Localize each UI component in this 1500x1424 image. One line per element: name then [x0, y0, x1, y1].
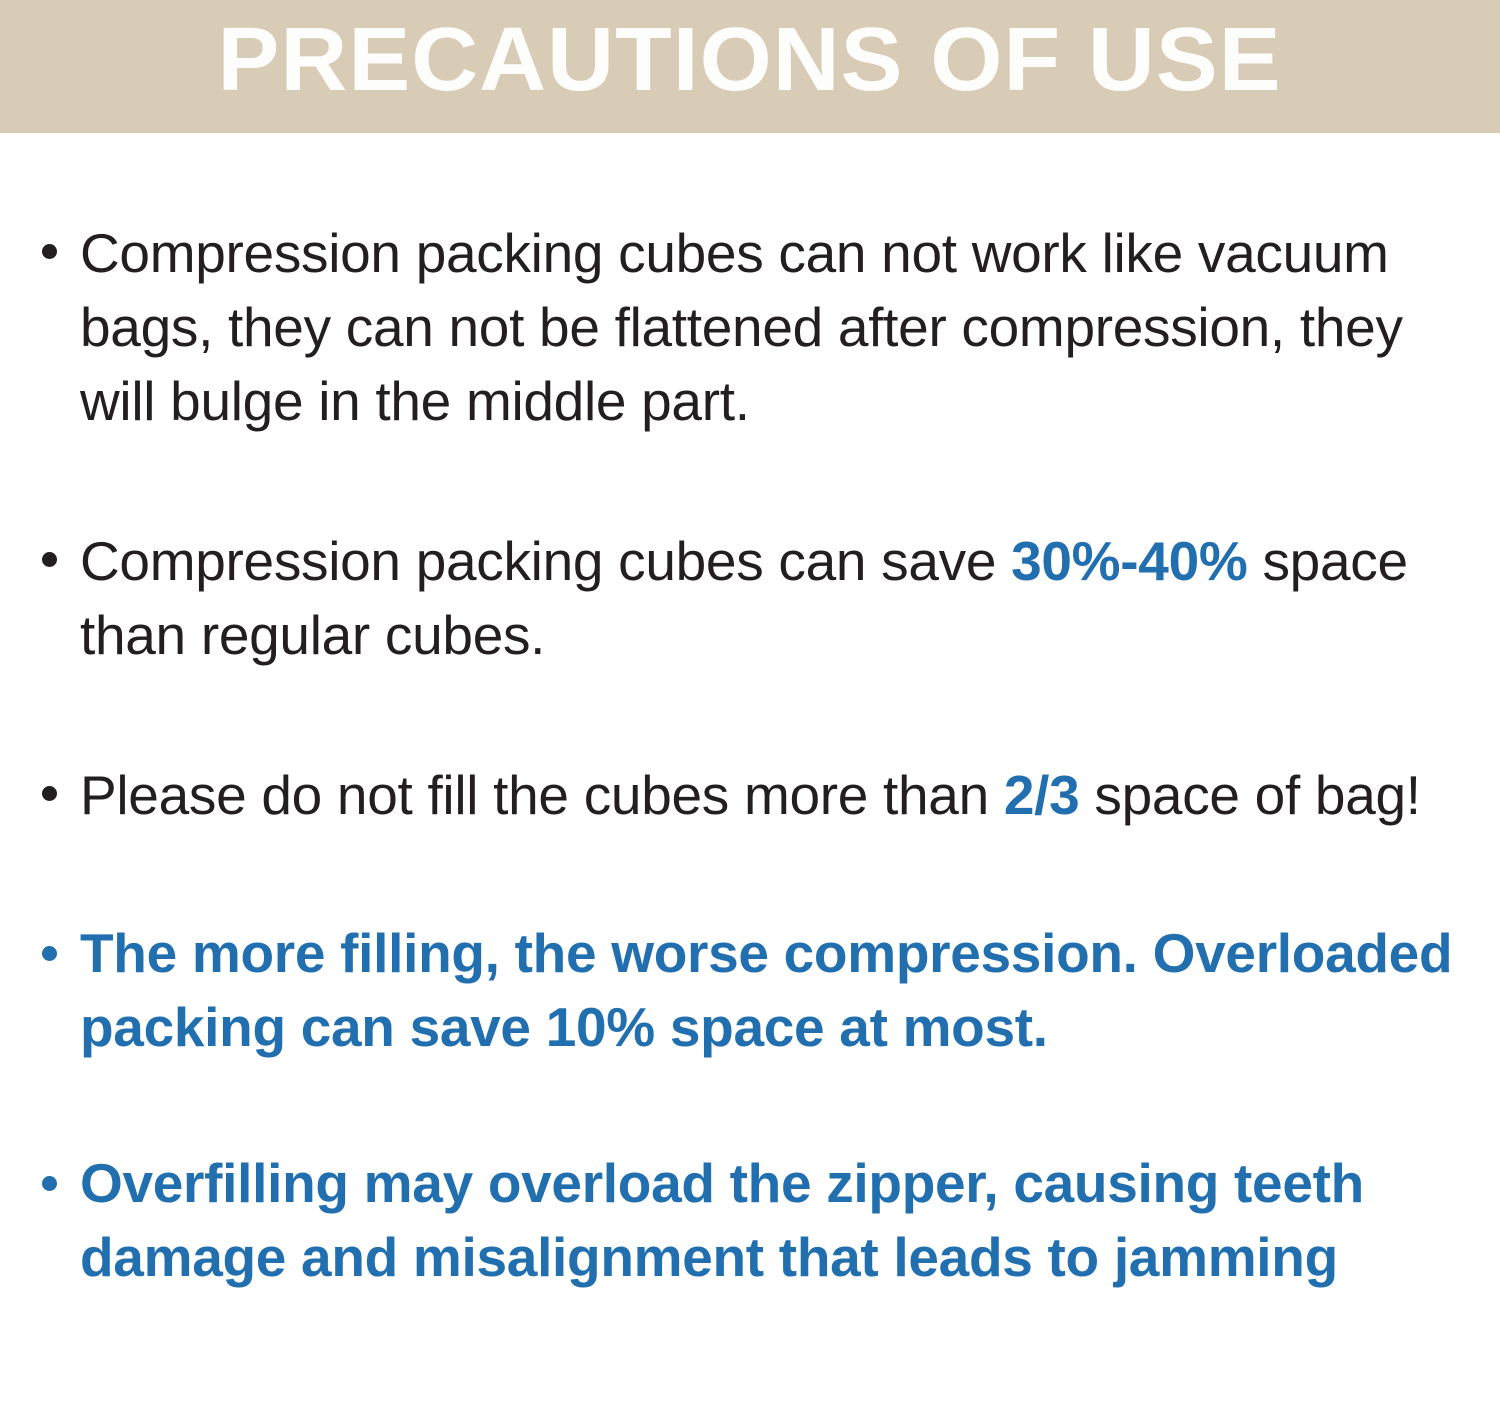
- bullet-dot-icon: [42, 1176, 57, 1191]
- precautions-infographic: PRECAUTIONS OF USE Compression packing c…: [0, 0, 1500, 1424]
- bullet-dot-icon: [42, 786, 57, 801]
- precaution-text-2: Compression packing cubes can save 30%-4…: [80, 524, 1458, 672]
- precaution-item-3: Please do not fill the cubes more than 2…: [0, 758, 1500, 832]
- highlight-text: 30%-40%: [1011, 530, 1247, 592]
- bullet-dot-icon: [42, 552, 57, 567]
- bullet-dot-icon: [42, 244, 57, 259]
- precaution-text-1: Compression packing cubes can not work l…: [80, 216, 1458, 438]
- precaution-item-5: Overfilling may overload the zipper, cau…: [0, 1146, 1500, 1294]
- precaution-item-1: Compression packing cubes can not work l…: [0, 216, 1500, 438]
- bullet-dot-icon: [42, 946, 57, 961]
- header-band: PRECAUTIONS OF USE: [0, 0, 1500, 133]
- page-title: PRECAUTIONS OF USE: [218, 15, 1282, 105]
- highlight-text: 2/3: [1004, 764, 1080, 826]
- precautions-list: Compression packing cubes can not work l…: [0, 133, 1500, 1294]
- precaution-text-5: Overfilling may overload the zipper, cau…: [80, 1146, 1458, 1294]
- precaution-text-3: Please do not fill the cubes more than 2…: [80, 758, 1458, 832]
- precaution-item-4: The more filling, the worse compression.…: [0, 916, 1500, 1064]
- precaution-text-4: The more filling, the worse compression.…: [80, 916, 1458, 1064]
- precaution-item-2: Compression packing cubes can save 30%-4…: [0, 524, 1500, 672]
